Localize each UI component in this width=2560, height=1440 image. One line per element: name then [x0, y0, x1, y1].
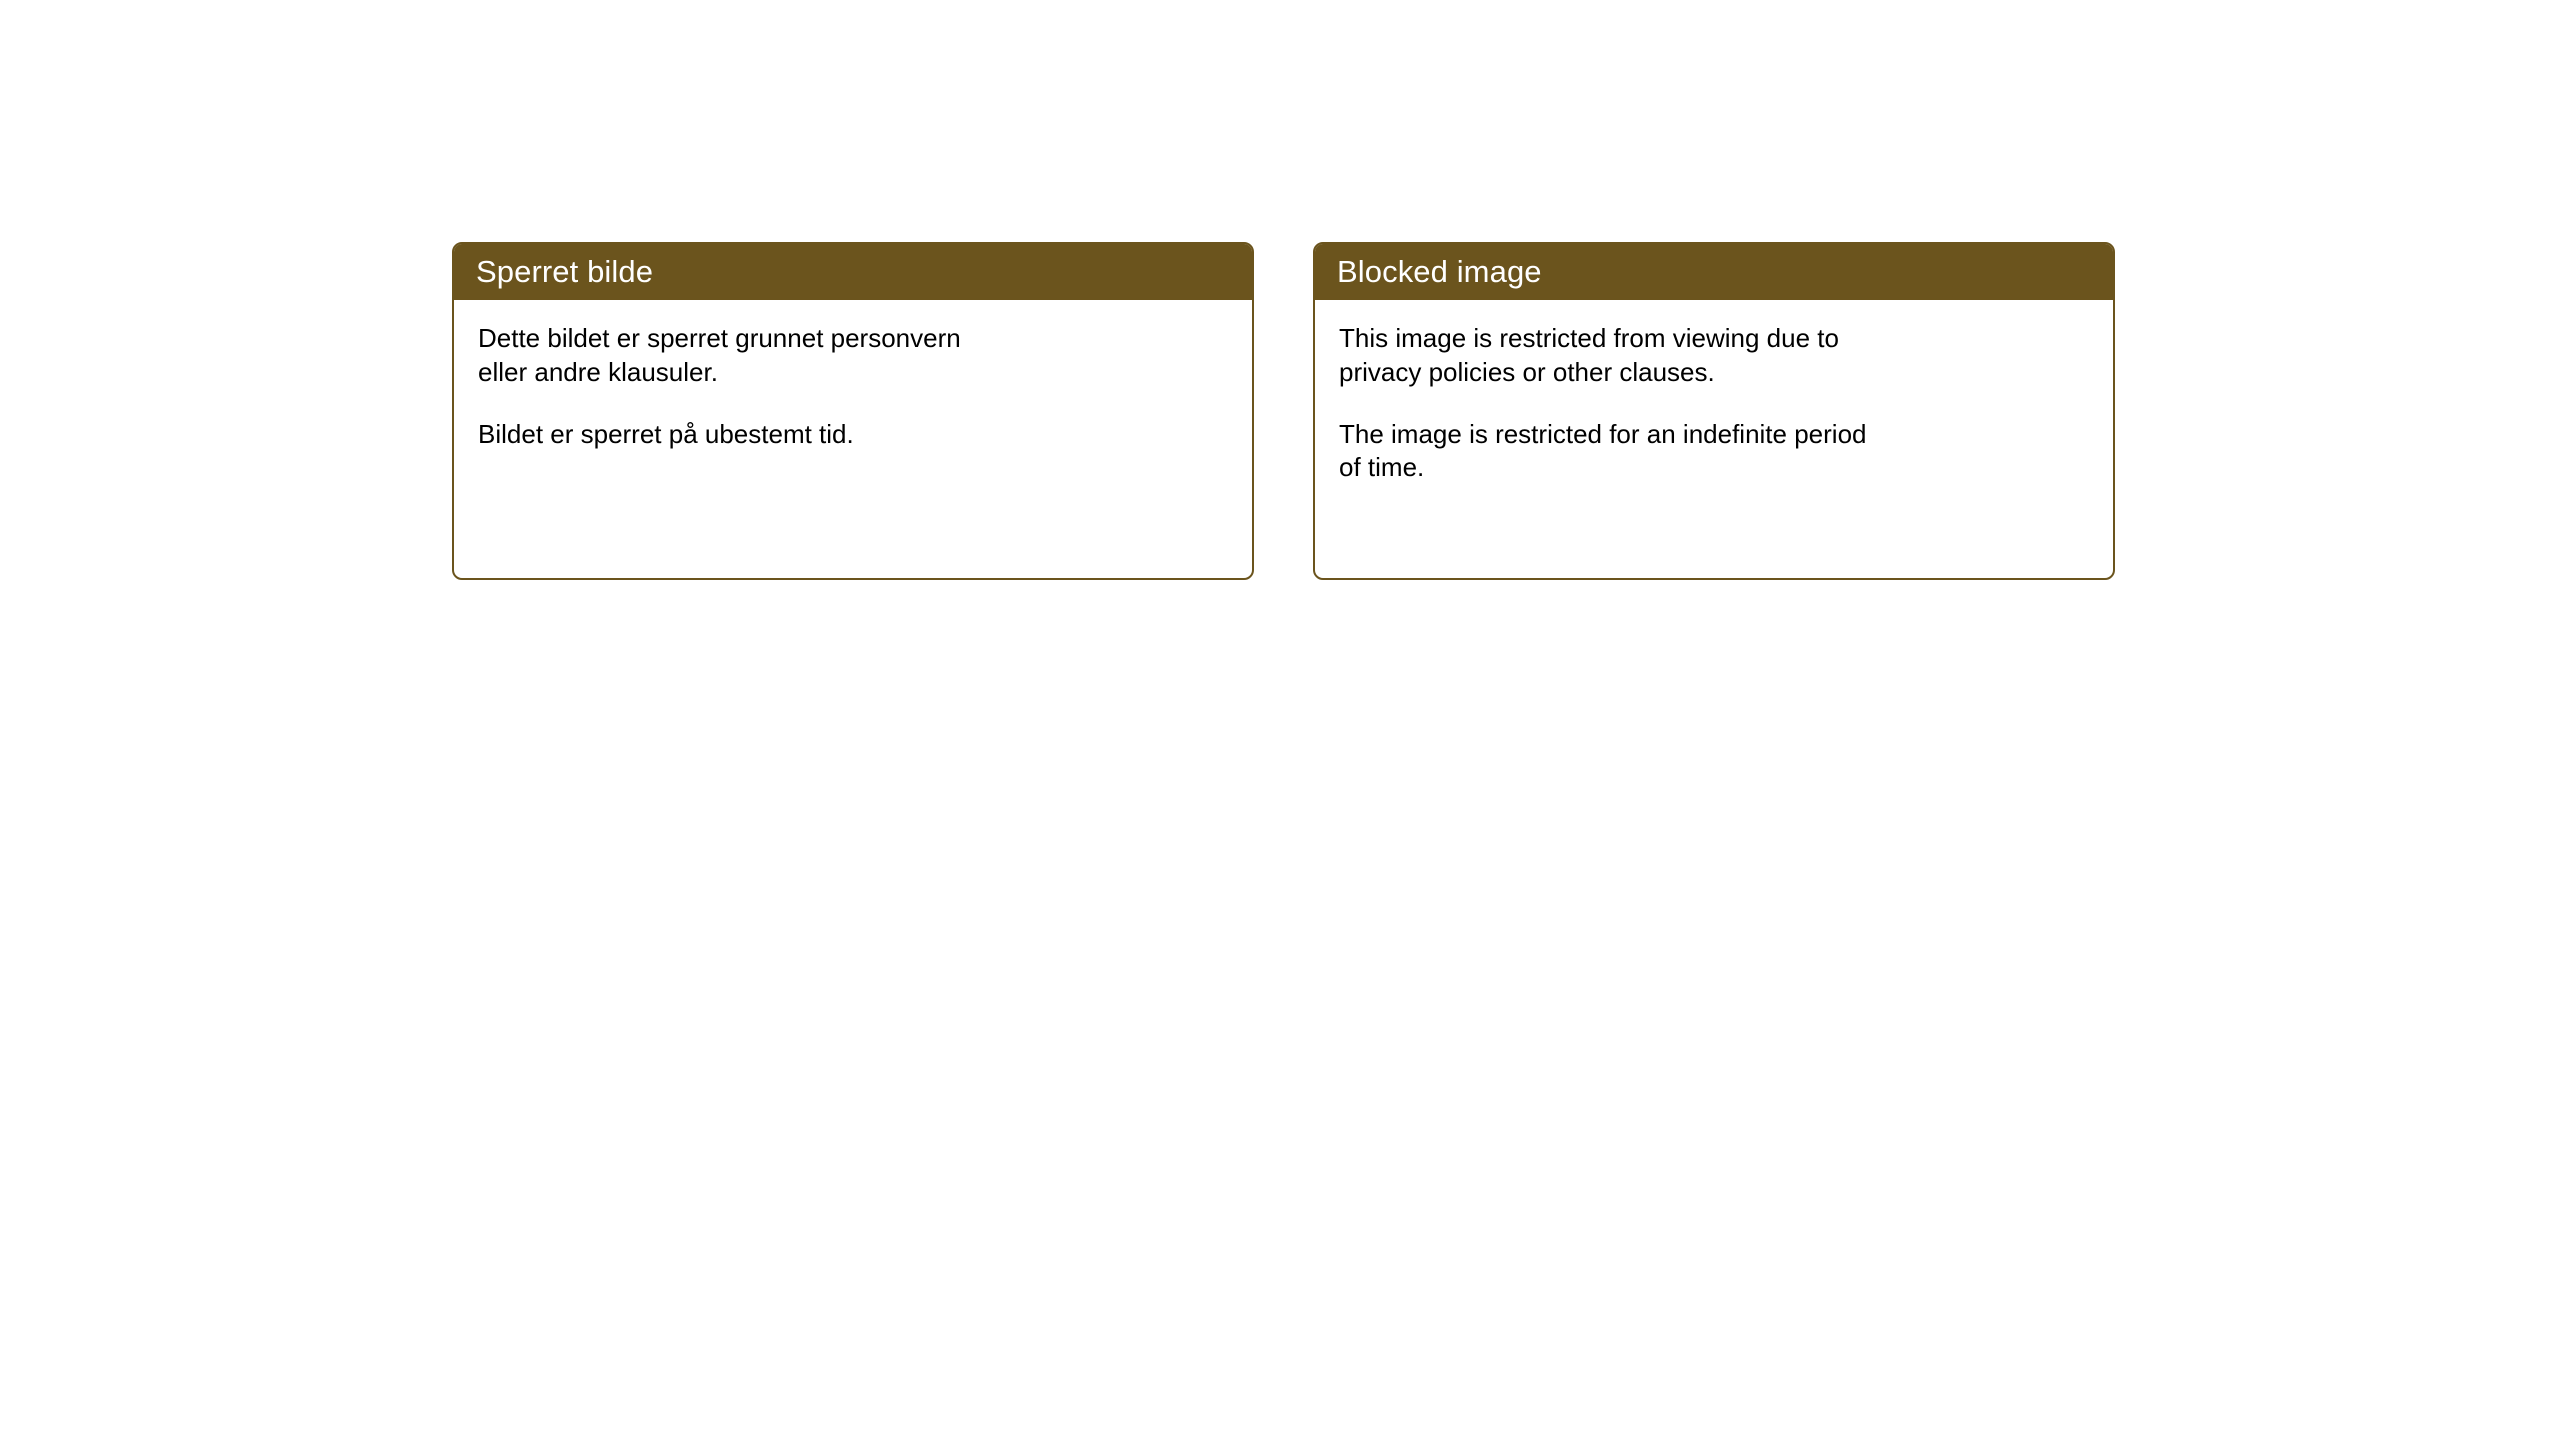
panel-title-norwegian: Sperret bilde [476, 256, 653, 287]
blocked-image-notice-norwegian: Sperret bilde Dette bildet er sperret gr… [452, 242, 1254, 580]
notice-paragraph-reason-english: This image is restricted from viewing du… [1339, 322, 2087, 390]
blocked-image-notice-english: Blocked image This image is restricted f… [1313, 242, 2115, 580]
panel-body-norwegian: Dette bildet er sperret grunnet personve… [454, 300, 1252, 451]
notice-paragraph-duration-english: The image is restricted for an indefinit… [1339, 418, 2087, 486]
panel-title-english: Blocked image [1337, 256, 1542, 287]
notice-paragraph-reason-norwegian: Dette bildet er sperret grunnet personve… [478, 322, 1226, 390]
panel-header-norwegian: Sperret bilde [452, 242, 1254, 300]
panel-header-english: Blocked image [1313, 242, 2115, 300]
page-canvas: Sperret bilde Dette bildet er sperret gr… [0, 0, 2560, 1440]
panel-body-english: This image is restricted from viewing du… [1315, 300, 2113, 485]
notice-paragraph-duration-norwegian: Bildet er sperret på ubestemt tid. [478, 418, 1226, 452]
